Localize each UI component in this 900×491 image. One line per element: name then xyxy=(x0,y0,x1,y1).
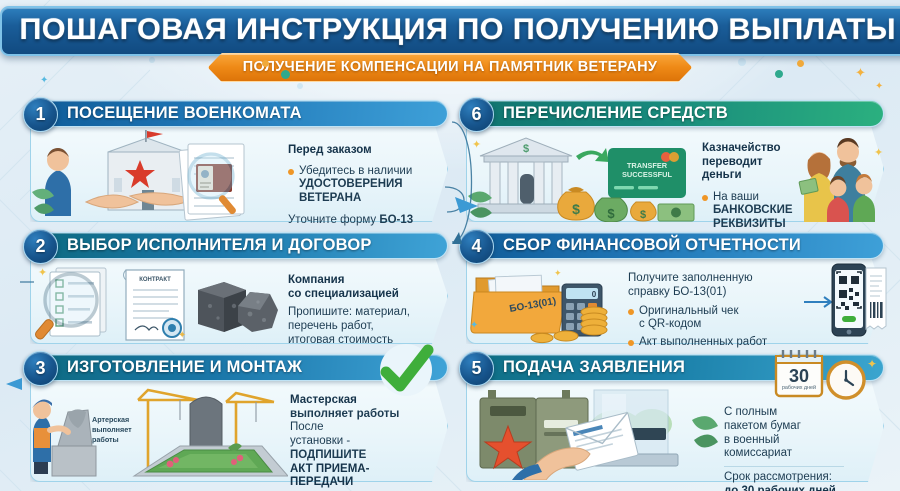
calendar-number: 30 xyxy=(789,366,809,386)
deco-dot-right xyxy=(775,70,783,78)
deco-dot-right2 xyxy=(797,60,804,67)
deco-dot-left xyxy=(262,60,269,67)
checkmark-icon xyxy=(372,342,440,402)
calendar-clock-group: 30 рабочих дней ✦ xyxy=(770,346,878,406)
subtitle-text: ПОЛУЧЕНИЕ КОМПЕНСАЦИИ НА ПАМЯТНИК ВЕТЕРА… xyxy=(243,59,657,75)
subtitle-ribbon-wrap: ПОЛУЧЕНИЕ КОМПЕНСАЦИИ НА ПАМЯТНИК ВЕТЕРА… xyxy=(0,53,900,82)
connector-arrows xyxy=(0,92,900,491)
deco-sparkle-2: ✦ xyxy=(875,82,883,92)
page-title: ПОШАГОВАЯ ИНСТРУКЦИЯ ПО ПОЛУЧЕНИЮ ВЫПЛАТ… xyxy=(19,15,896,45)
calendar-caption: рабочих дней xyxy=(782,384,816,391)
subtitle-ribbon: ПОЛУЧЕНИЕ КОМПЕНСАЦИИ НА ПАМЯТНИК ВЕТЕРА… xyxy=(208,53,692,82)
steps-board: 1 ПОСЕЩЕНИЕ ВОЕНКОМАТА xyxy=(0,92,900,491)
deco-sparkle-1: ✦ xyxy=(855,66,866,79)
sparkle-icon-5: ✦ xyxy=(867,357,877,371)
deco-dot-left2 xyxy=(281,70,290,79)
deco-sparkle-3: ✦ xyxy=(40,76,48,86)
title-bar: ПОШАГОВАЯ ИНСТРУКЦИЯ ПО ПОЛУЧЕНИЮ ВЫПЛАТ… xyxy=(0,6,900,56)
title-banner: ПОШАГОВАЯ ИНСТРУКЦИЯ ПО ПОЛУЧЕНИЮ ВЫПЛАТ… xyxy=(0,6,900,56)
